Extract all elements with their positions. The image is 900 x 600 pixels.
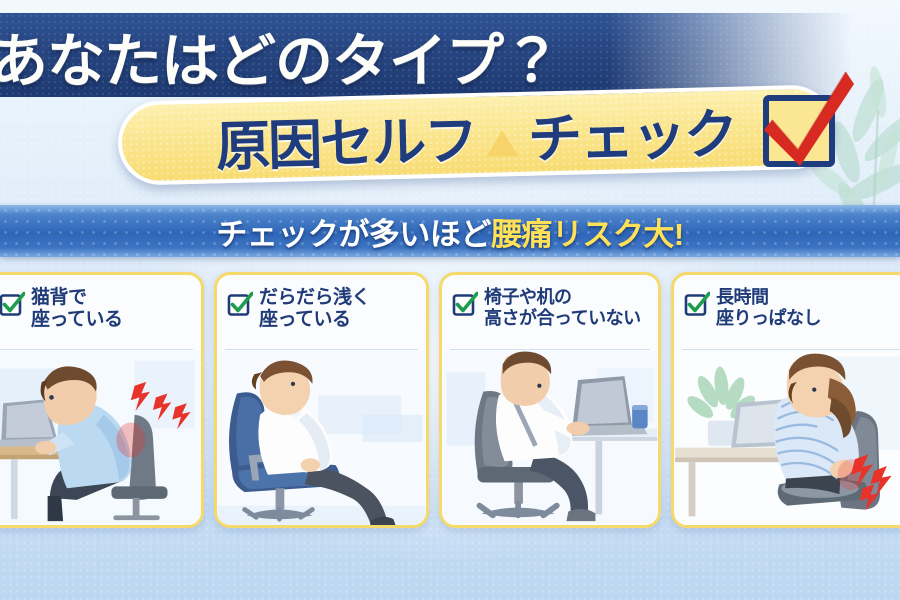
check-card[interactable]: 椅子や机の 高さが合っていない [439,272,661,528]
card-heading: 長時間 座りっぱなし [684,287,900,329]
check-card-list: 猫背で 座っている [0,272,900,528]
woman-with-lower-back-pain-icon [674,351,900,525]
header: あなたはどのタイプ？ 原因セルフ チェック [0,0,900,205]
banner-separator-triangle-icon [486,130,519,157]
subtitle-text-white: チェックが多いほど [216,209,491,254]
card-illustration [674,351,900,525]
card-label: だらだら浅く 座っている [259,287,370,332]
red-checkmark-icon [742,62,860,180]
checked-checkbox-icon[interactable] [684,291,710,317]
banner-title-part2: チェック [527,89,737,173]
card-divider [682,349,900,350]
check-card[interactable]: だらだら浅く 座っている [214,272,429,528]
card-label-line2: 座りっぱなし [716,308,821,329]
card-heading: 椅子や机の 高さが合っていない [452,287,650,329]
infographic-stage: あなたはどのタイプ？ 原因セルフ チェック チェックが多いほど 腰痛リスク大! [0,0,900,600]
man-slouching-in-chair-icon [217,351,426,525]
card-label-line2: 座っている [31,309,123,331]
card-heading: だらだら浅く 座っている [227,287,418,332]
card-divider [225,349,418,350]
card-illustration [442,351,658,525]
card-label: 猫背で 座っている [31,287,123,332]
check-card[interactable]: 長時間 座りっぱなし [671,272,900,528]
card-divider [450,349,650,350]
card-heading: 猫背で 座っている [0,287,193,332]
card-label-line2: 高さが合っていない [484,308,641,329]
card-label-line2: 座っている [259,309,370,331]
checked-checkbox-icon[interactable] [227,291,253,317]
man-at-desk-wrong-height-icon [442,351,658,525]
banner-title-part1: 原因セルフ [215,96,477,181]
check-card[interactable]: 猫背で 座っている [0,272,204,528]
card-illustration [0,351,201,525]
card-illustration [217,351,426,525]
subtitle-text-yellow: 腰痛リスク大! [491,209,684,254]
card-label-line1: 長時間 [716,287,769,307]
card-divider [0,349,193,350]
card-label-line1: だらだら浅く [259,287,370,308]
card-label: 椅子や机の 高さが合っていない [484,287,641,329]
checked-checkbox-icon[interactable] [0,291,25,317]
banner-title: 原因セルフ チェック [117,84,835,185]
subtitle-ribbon: チェックが多いほど 腰痛リスク大! [0,205,900,257]
card-label-line1: 椅子や机の [484,287,572,307]
man-hunched-over-laptop-icon [0,351,201,525]
card-label: 長時間 座りっぱなし [716,287,821,329]
card-label-line1: 猫背で [31,287,87,308]
subtitle-text: チェックが多いほど 腰痛リスク大! [0,205,900,257]
checked-checkbox-icon[interactable] [452,291,478,317]
page-title: あなたはどのタイプ？ [0,18,870,94]
